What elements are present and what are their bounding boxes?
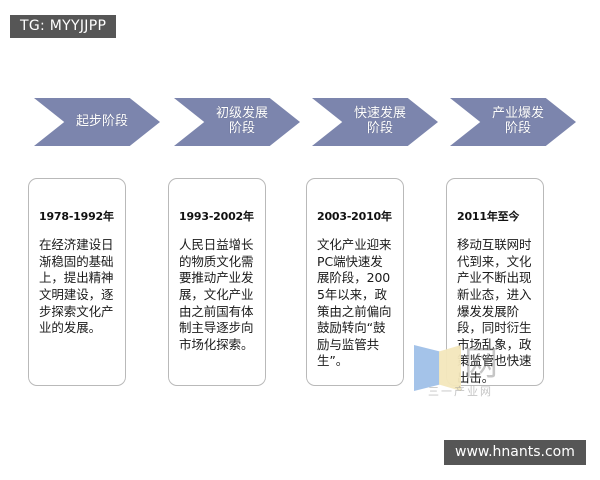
stage-arrow-label-2: 初级发展 阶段 bbox=[205, 107, 279, 136]
stage-card-3: 2003-2010年 文化产业迎来PC端快速发展阶段，2005年以来，政策由之前… bbox=[306, 178, 404, 386]
stage-card-1: 1978-1992年 在经济建设日渐稳固的基础上，提出精神文明建设，逐步探索文化… bbox=[28, 178, 126, 386]
stage-arrow-label-4: 产业爆发 阶段 bbox=[481, 107, 555, 136]
stage-card-title-2: 1993-2002年 bbox=[179, 211, 257, 223]
stage-arrow-3: 快速发展 阶段 bbox=[312, 98, 438, 146]
source-tag: TG: MYYJJPP bbox=[10, 15, 116, 38]
stage-card-4: 2011年至今 移动互联网时代到来，文化产业不断出现新业态，进入爆发发展阶段，同… bbox=[446, 178, 544, 386]
stage-card-body-4: 移动互联网时代到来，文化产业不断出现新业态，进入爆发发展阶段，同时衍生市场乱象，… bbox=[457, 237, 535, 387]
stage-arrow-label-3: 快速发展 阶段 bbox=[343, 107, 417, 136]
stage-arrow-label-1: 起步阶段 bbox=[65, 115, 139, 130]
stage-arrow-4: 产业爆发 阶段 bbox=[450, 98, 576, 146]
stage-arrow-2: 初级发展 阶段 bbox=[174, 98, 300, 146]
stage-card-title-1: 1978-1992年 bbox=[39, 211, 117, 223]
stage-card-title-4: 2011年至今 bbox=[457, 211, 535, 223]
stage-card-2: 1993-2002年 人民日益增长的物质文化需要推动产业发展，文化产业由之前国有… bbox=[168, 178, 266, 386]
watermark-blue-shape-icon bbox=[414, 345, 440, 391]
stage-card-title-3: 2003-2010年 bbox=[317, 211, 395, 223]
stage-card-body-3: 文化产业迎来PC端快速发展阶段，2005年以来，政策由之前偏向鼓励转向“鼓励与监… bbox=[317, 237, 395, 370]
stage-card-body-2: 人民日益增长的物质文化需要推动产业发展，文化产业由之前国有体制主导逐步向市场化探… bbox=[179, 237, 257, 353]
footer-url: www.hnants.com bbox=[444, 440, 586, 465]
stage-card-body-1: 在经济建设日渐稳固的基础上，提出精神文明建设，逐步探索文化产业的发展。 bbox=[39, 237, 117, 337]
stage-arrow-1: 起步阶段 bbox=[34, 98, 160, 146]
